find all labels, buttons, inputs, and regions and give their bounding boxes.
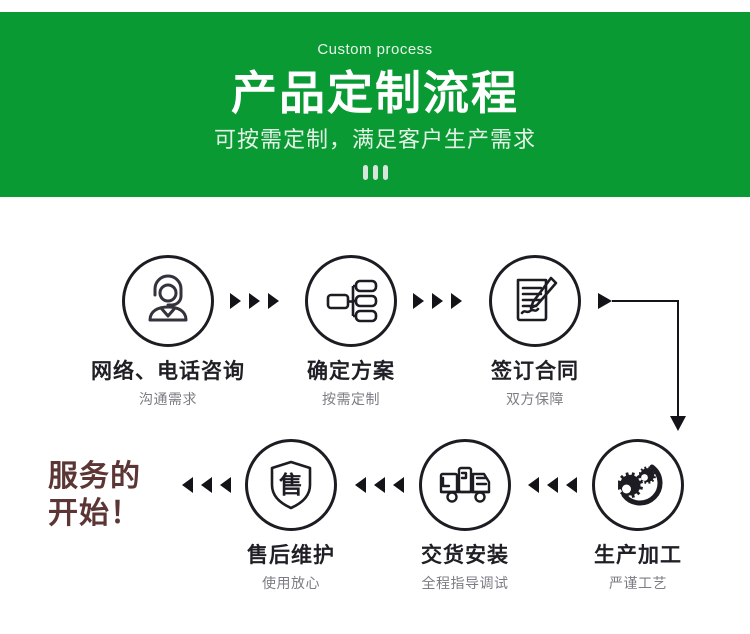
elbow-arrow-connector xyxy=(596,285,696,435)
step-icon-circle: 售 xyxy=(245,439,337,531)
step-node-consult[interactable]: 网络、电话咨询 沟通需求 xyxy=(122,255,214,406)
step-title: 售后维护 xyxy=(247,545,335,566)
delivery-truck-icon xyxy=(436,456,494,514)
triangle-left-icon xyxy=(374,477,385,493)
triangle-right-icon xyxy=(598,293,612,309)
step-title: 网络、电话咨询 xyxy=(91,361,245,382)
triangle-right-icon xyxy=(249,293,260,309)
triangle-left-icon xyxy=(528,477,539,493)
connector-arrows-3 xyxy=(182,477,231,493)
page-title: 产品定制流程 xyxy=(231,69,519,117)
page-root: Custom process 产品定制流程 可按需定制，满足客户生产需求 xyxy=(0,0,750,634)
banner-eyebrow: Custom process xyxy=(317,42,432,57)
contract-pen-icon xyxy=(506,272,564,330)
step-icon-circle xyxy=(122,255,214,347)
connector-arrows-5 xyxy=(528,477,577,493)
banner-dots-decoration xyxy=(363,165,388,180)
step-subtitle: 全程指导调试 xyxy=(422,576,509,590)
step-node-delivery[interactable]: 交货安装 全程指导调试 xyxy=(419,439,511,590)
triangle-left-icon xyxy=(220,477,231,493)
step-subtitle: 严谨工艺 xyxy=(609,576,667,590)
step-node-plan[interactable]: 确定方案 按需定制 xyxy=(305,255,397,406)
connector-arrows-1 xyxy=(230,293,279,309)
triangle-right-icon xyxy=(451,293,462,309)
headset-person-icon xyxy=(139,272,197,330)
step-node-contract[interactable]: 签订合同 双方保障 xyxy=(489,255,581,406)
triangle-right-icon xyxy=(432,293,443,309)
triangle-left-icon xyxy=(201,477,212,493)
step-title: 交货安装 xyxy=(421,545,509,566)
elbow-arrow-svg xyxy=(596,285,696,435)
service-start-callout: 服务的 开始！ xyxy=(48,459,141,532)
step-icon-circle xyxy=(592,439,684,531)
step-node-production[interactable]: 生产加工 严谨工艺 xyxy=(592,439,684,590)
triangle-left-icon xyxy=(393,477,404,493)
triangle-left-icon xyxy=(355,477,366,493)
shield-service-icon: 售 xyxy=(262,456,320,514)
header-banner: Custom process 产品定制流程 可按需定制，满足客户生产需求 xyxy=(0,12,750,197)
step-title: 签订合同 xyxy=(491,361,579,382)
step-title: 生产加工 xyxy=(594,545,682,566)
triangle-down-icon xyxy=(670,416,686,431)
step-title: 确定方案 xyxy=(307,361,395,382)
connector-arrows-4 xyxy=(355,477,404,493)
service-start-line2: 开始！ xyxy=(48,496,141,533)
dot-bar-icon xyxy=(373,165,378,180)
flowchart-icon xyxy=(322,272,380,330)
step-subtitle: 沟通需求 xyxy=(139,392,197,406)
banner-subtitle: 可按需定制，满足客户生产需求 xyxy=(214,129,536,151)
connector-arrows-2 xyxy=(413,293,462,309)
triangle-left-icon xyxy=(566,477,577,493)
step-icon-circle xyxy=(489,255,581,347)
step-node-aftersales[interactable]: 售 售后维护 使用放心 xyxy=(245,439,337,590)
triangle-right-icon xyxy=(230,293,241,309)
triangle-right-icon xyxy=(413,293,424,309)
triangle-left-icon xyxy=(182,477,193,493)
shield-glyph: 售 xyxy=(279,471,303,499)
dot-bar-icon xyxy=(363,165,368,180)
process-flow: 网络、电话咨询 沟通需求 xyxy=(0,197,750,634)
step-icon-circle xyxy=(419,439,511,531)
step-subtitle: 双方保障 xyxy=(506,392,564,406)
step-icon-circle xyxy=(305,255,397,347)
triangle-left-icon xyxy=(547,477,558,493)
step-subtitle: 使用放心 xyxy=(262,576,320,590)
triangle-right-icon xyxy=(268,293,279,309)
step-subtitle: 按需定制 xyxy=(322,392,380,406)
gears-production-icon xyxy=(608,455,668,515)
dot-bar-icon xyxy=(383,165,388,180)
service-start-line1: 服务的 xyxy=(48,459,141,496)
